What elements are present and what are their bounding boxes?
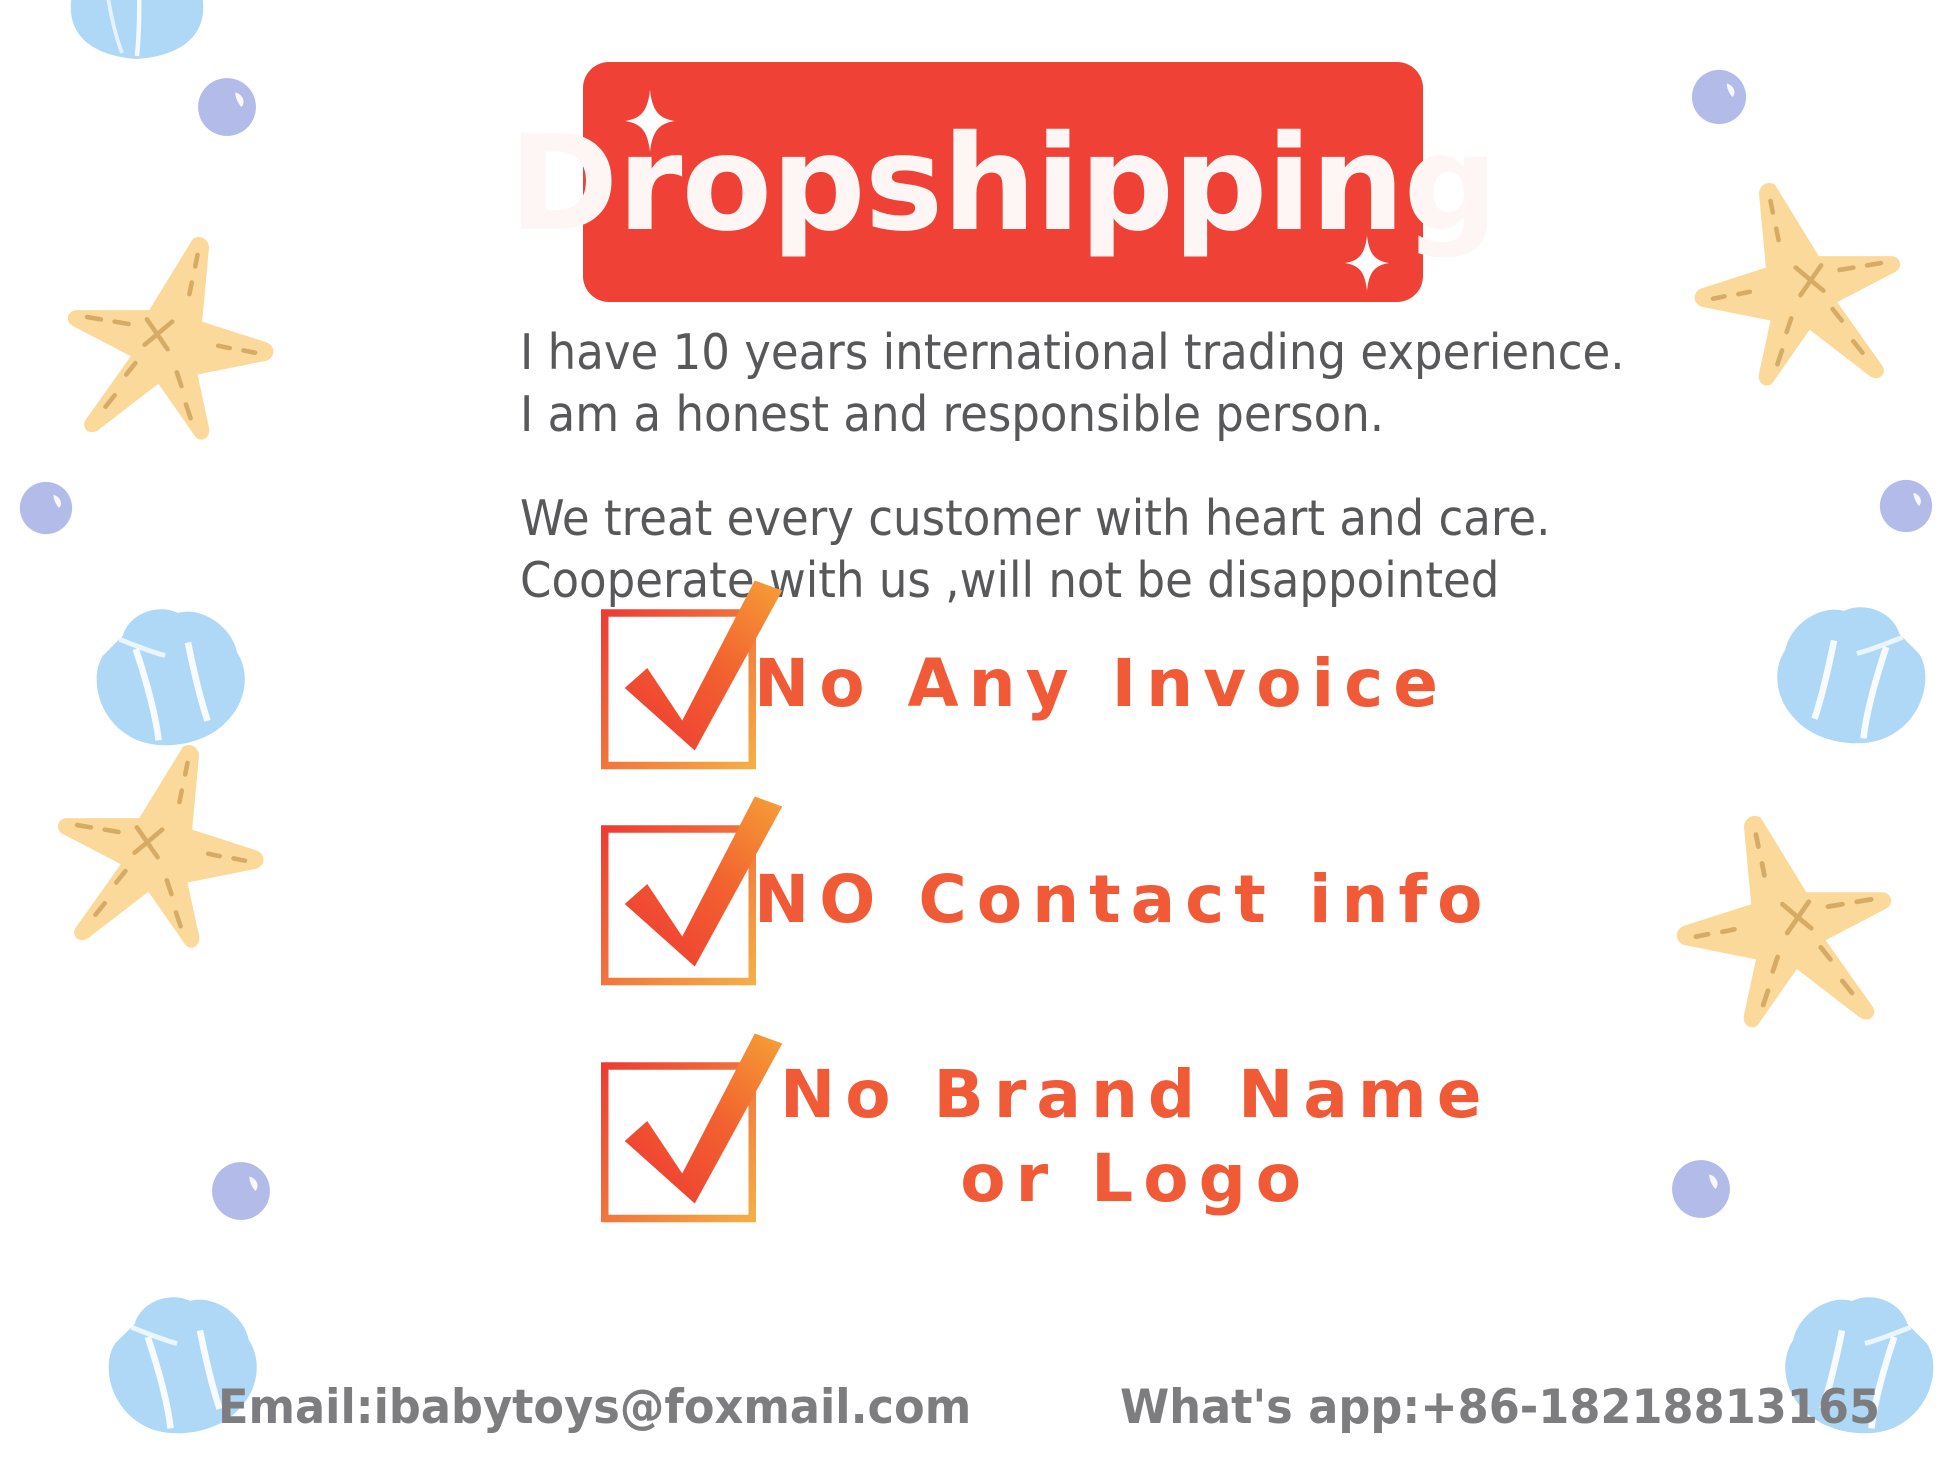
contact-email[interactable]: Email:ibabytoys@foxmail.com	[218, 1384, 971, 1431]
bubble-icon	[18, 480, 74, 536]
starfish-icon	[38, 730, 268, 950]
feature-item-no-invoice: No Any Invoice	[596, 600, 1936, 768]
intro-line-3: We treat every customer with heart and c…	[520, 488, 1495, 550]
feature-label: No Brand Name or Logo	[780, 1053, 1491, 1221]
shell-icon	[62, 0, 212, 62]
title-banner: Dropshipping	[583, 62, 1423, 302]
intro-line-1: I have 10 years international trading ex…	[520, 322, 1495, 384]
checked-checkbox-icon	[596, 825, 746, 975]
sparkle-icon	[625, 90, 675, 157]
dropshipping-poster: Dropshipping I have 10 years internation…	[0, 0, 1946, 1460]
checked-checkbox-icon	[596, 1062, 746, 1212]
feature-item-no-brand: No Brand Name or Logo	[596, 1032, 1936, 1242]
intro-line-2: I am a honest and responsible person.	[520, 384, 1495, 446]
checked-checkbox-icon	[596, 609, 746, 759]
bubble-icon	[1878, 478, 1934, 534]
bubble-icon	[210, 1160, 272, 1222]
sparkle-icon	[1345, 235, 1389, 296]
intro-copy: I have 10 years international trading ex…	[520, 322, 1580, 612]
bubble-icon	[196, 76, 258, 138]
feature-label: NO Contact info	[754, 858, 1493, 942]
starfish-icon	[48, 222, 278, 442]
feature-item-no-contact: NO Contact info	[596, 816, 1936, 984]
contact-whatsapp[interactable]: What's app:+86-18218813165	[1120, 1384, 1880, 1431]
bubble-icon	[1690, 68, 1748, 126]
copy-spacer	[520, 446, 1580, 488]
starfish-icon	[1690, 168, 1920, 388]
shell-icon	[80, 600, 260, 760]
feature-list: No Any Invoice NO Contact info No Brand …	[596, 600, 1936, 1290]
feature-label: No Any Invoice	[754, 642, 1448, 726]
